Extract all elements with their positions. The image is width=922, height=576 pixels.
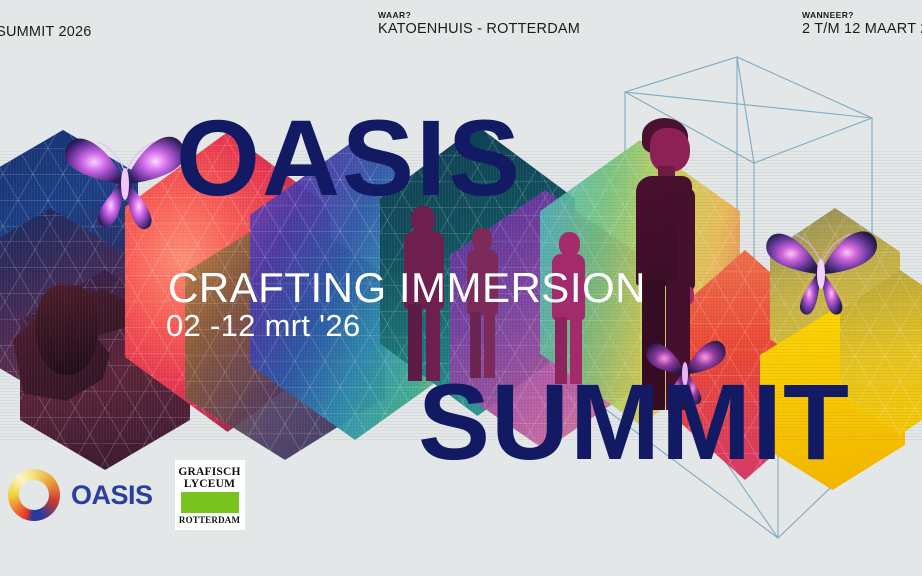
headline-oasis: OASIS	[176, 104, 522, 212]
header-left: S SUMMIT 2026	[0, 23, 92, 41]
glr-line-2: LYCEUM	[184, 478, 235, 490]
oasis-wordmark: OASIS	[71, 480, 153, 511]
header-location: WAAR? KATOENHUIS - ROTTERDAM	[378, 10, 580, 38]
logo-row: OASIS GRAFISCH LYCEUM ROTTERDAM	[8, 460, 245, 530]
butterfly-left-glowing	[60, 122, 190, 237]
header-location-kicker: WAAR?	[378, 10, 580, 20]
headline-summit: SUMMIT	[418, 368, 850, 476]
header-left-text: S SUMMIT 2026	[0, 23, 92, 41]
butterfly-right-lower	[760, 218, 885, 318]
header-date: WANNEER? 2 T/M 12 MAART 20	[802, 10, 922, 38]
tagline-date: 02 -12 mrt '26	[166, 308, 360, 344]
oasis-ring-icon	[8, 469, 60, 521]
grafisch-lyceum-logo[interactable]: GRAFISCH LYCEUM ROTTERDAM	[175, 460, 245, 530]
header-date-value: 2 T/M 12 MAART 20	[802, 20, 922, 38]
glr-line-3: ROTTERDAM	[179, 515, 240, 525]
header-location-value: KATOENHUIS - ROTTERDAM	[378, 20, 580, 38]
oasis-logo[interactable]: OASIS	[8, 469, 153, 521]
tagline-crafting-immersion: CRAFTING IMMERSION	[168, 264, 646, 312]
glr-green-block	[181, 492, 239, 513]
poster-canvas: OASIS SUMMIT CRAFTING IMMERSION 02 -12 m…	[0, 0, 922, 576]
glr-line-1: GRAFISCH	[178, 466, 240, 478]
header-date-kicker: WANNEER?	[802, 10, 922, 20]
